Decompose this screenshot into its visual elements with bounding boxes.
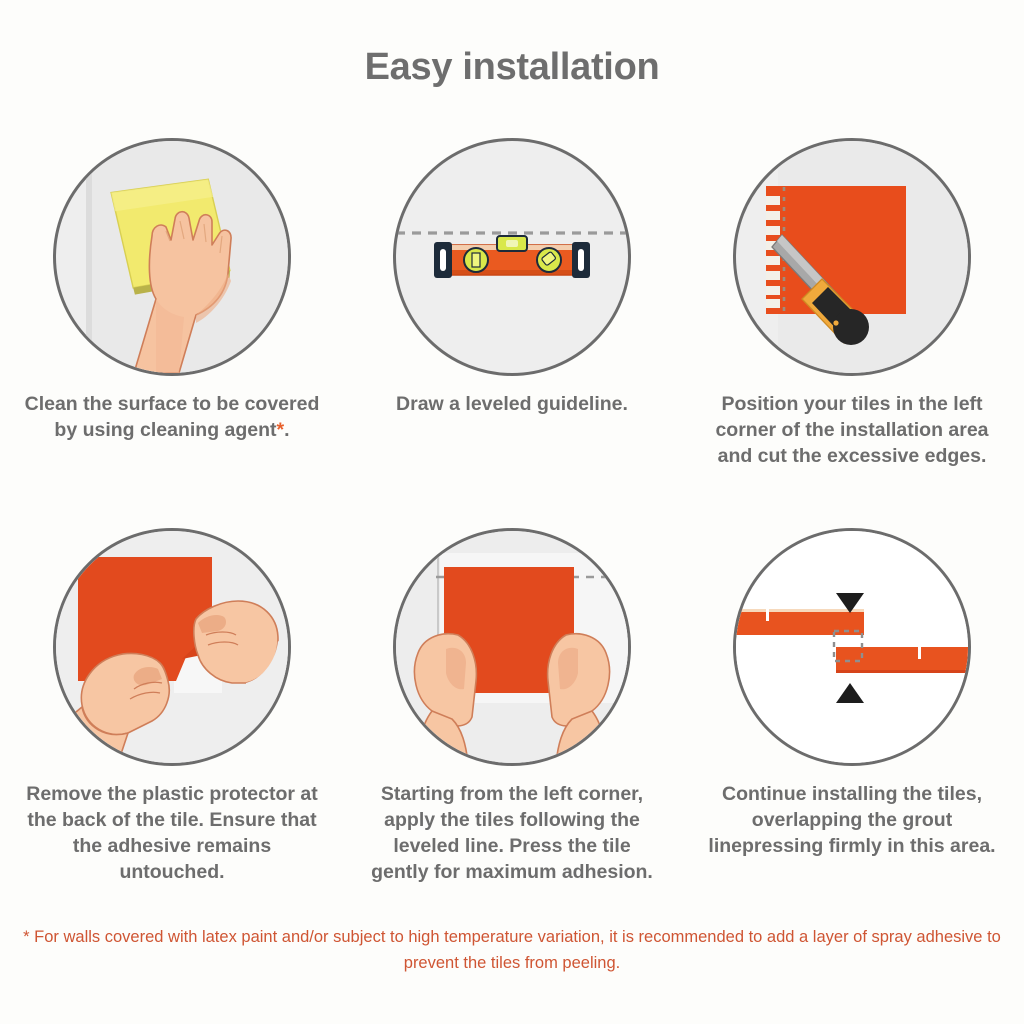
step-6-illustration (733, 528, 971, 766)
overlap-tiles-icon (736, 531, 968, 763)
step-5: Starting from the left corner, apply the… (342, 528, 682, 886)
step-4-caption: Remove the plastic protector at the back… (22, 782, 322, 886)
hand-wiping-wall-icon (56, 141, 288, 373)
step-5-illustration (393, 528, 631, 766)
step-4: Remove the plastic protector at the back… (2, 528, 342, 886)
steps-row-2: Remove the plastic protector at the back… (0, 528, 1024, 886)
place-tile-icon (396, 531, 628, 763)
step-6-caption: Continue installing the tiles, overlappi… (702, 782, 1002, 860)
tile-cutting-knife-icon (736, 141, 968, 373)
step-3: Position your tiles in the left corner o… (682, 138, 1022, 470)
step-5-caption: Starting from the left corner, apply the… (362, 782, 662, 886)
footnote: * For walls covered with latex paint and… (0, 925, 1024, 976)
step-6: Continue installing the tiles, overlappi… (682, 528, 1022, 886)
step-2-illustration (393, 138, 631, 376)
step-1-caption-text: Clean the surface to be covered by using… (25, 393, 320, 441)
step-2: Draw a leveled guideline. (342, 138, 682, 470)
step-3-caption: Position your tiles in the left corner o… (702, 392, 1002, 470)
step-1-caption-period: . (284, 419, 289, 441)
step-1: Clean the surface to be covered by using… (2, 138, 342, 470)
page-title: Easy installation (0, 46, 1024, 89)
step-1-illustration (53, 138, 291, 376)
step-1-caption: Clean the surface to be covered by using… (22, 392, 322, 444)
infographic-page: Easy installation (0, 0, 1024, 1024)
steps-grid: Clean the surface to be covered by using… (0, 138, 1024, 885)
steps-row-1: Clean the surface to be covered by using… (0, 138, 1024, 470)
step-4-illustration (53, 528, 291, 766)
peel-backing-icon (56, 531, 288, 763)
level-body (434, 236, 590, 278)
step-2-caption: Draw a leveled guideline. (362, 392, 662, 418)
step-3-illustration (733, 138, 971, 376)
step-1-asterisk: * (277, 419, 285, 441)
spirit-level-icon (396, 141, 628, 373)
